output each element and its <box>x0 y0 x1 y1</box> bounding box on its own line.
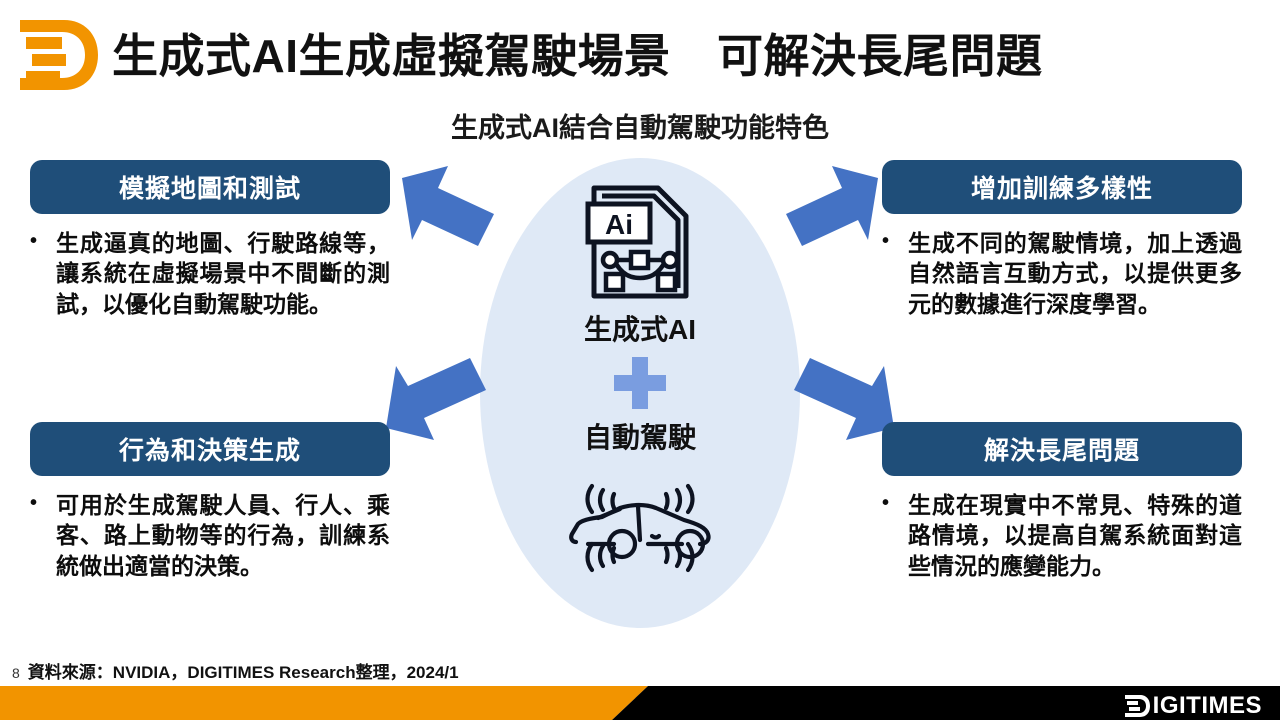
quadrant-header-bottom-right[interactable]: 解決長尾問題 <box>882 422 1242 476</box>
bullet-marker: • <box>882 490 908 516</box>
quadrant-text: 可用於生成駕駛人員、行人、乘客、路上動物等的行為，訓練系統做出適當的決策。 <box>56 490 390 581</box>
quadrant-body-top-right: • 生成不同的駕駛情境，加上透過自然語言互動方式，以提供更多元的數據進行深度學習… <box>882 228 1242 319</box>
quadrant-card-top-left: 模擬地圖和測試 • 生成逼真的地圖、行駛路線等，讓系統在虛擬場景中不間斷的測試，… <box>30 160 390 319</box>
quadrant-body-top-left: • 生成逼真的地圖、行駛路線等，讓系統在虛擬場景中不間斷的測試，以優化自動駕駛功… <box>30 228 390 319</box>
quadrant-header-top-left[interactable]: 模擬地圖和測試 <box>30 160 390 214</box>
page-subtitle: 生成式AI結合自動駕駛功能特色 <box>0 106 1280 145</box>
quadrant-header-top-right[interactable]: 增加訓練多樣性 <box>882 160 1242 214</box>
page-number: 8 <box>12 665 20 681</box>
quadrant-card-bottom-right: 解決長尾問題 • 生成在現實中不常見、特殊的道路情境，以提高自駕系統面對這些情況… <box>882 422 1242 581</box>
arrow-down-left-icon <box>382 352 490 444</box>
footer-bar <box>0 686 1280 720</box>
quadrant-text: 生成不同的駕駛情境，加上透過自然語言互動方式，以提供更多元的數據進行深度學習。 <box>908 228 1242 319</box>
digitimes-d-mark-icon <box>1125 694 1151 718</box>
self-driving-car-icon <box>558 468 722 588</box>
quadrant-header-bottom-left[interactable]: 行為和決策生成 <box>30 422 390 476</box>
slide-header: 生成式AI生成虛擬駕駛場景 可解決長尾問題 生成式AI結合自動駕駛功能特色 <box>0 0 1280 100</box>
quadrant-card-bottom-left: 行為和決策生成 • 可用於生成駕駛人員、行人、乘客、路上動物等的行為，訓練系統做… <box>30 422 390 581</box>
plus-icon <box>612 355 668 411</box>
ai-file-icon: Ai <box>580 182 700 302</box>
svg-text:Ai: Ai <box>605 209 633 240</box>
quadrant-text: 生成在現實中不常見、特殊的道路情境，以提高自駕系統面對這些情況的應變能力。 <box>908 490 1242 581</box>
bullet-marker: • <box>30 228 56 254</box>
arrow-up-right-icon <box>782 162 882 250</box>
bullet-marker: • <box>882 228 908 254</box>
genai-label: 生成式AI <box>458 308 822 348</box>
quadrant-text: 生成逼真的地圖、行駛路線等，讓系統在虛擬場景中不間斷的測試，以優化自動駕駛功能。 <box>56 228 390 319</box>
quadrant-card-top-right: 增加訓練多樣性 • 生成不同的駕駛情境，加上透過自然語言互動方式，以提供更多元的… <box>882 160 1242 319</box>
digitimes-d-logo-icon <box>18 18 104 92</box>
page-title: 生成式AI生成虛擬駕駛場景 可解決長尾問題 <box>112 20 1043 86</box>
quadrant-body-bottom-left: • 可用於生成駕駛人員、行人、乘客、路上動物等的行為，訓練系統做出適當的決策。 <box>30 490 390 581</box>
bullet-marker: • <box>30 490 56 516</box>
digitimes-wordmark: IGITIMES <box>1125 692 1262 720</box>
arrow-up-left-icon <box>398 162 498 250</box>
source-text: 資料來源：NVIDIA，DIGITIMES Research整理，2024/1 <box>28 658 459 683</box>
footer-note: 8 資料來源：NVIDIA，DIGITIMES Research整理，2024/… <box>12 658 459 683</box>
center-diagram: Ai 生成式AI 自動駕駛 <box>458 150 822 650</box>
autodrive-label: 自動駕駛 <box>458 416 822 456</box>
digitimes-wordmark-text: IGITIMES <box>1153 692 1262 720</box>
quadrant-body-bottom-right: • 生成在現實中不常見、特殊的道路情境，以提高自駕系統面對這些情況的應變能力。 <box>882 490 1242 581</box>
